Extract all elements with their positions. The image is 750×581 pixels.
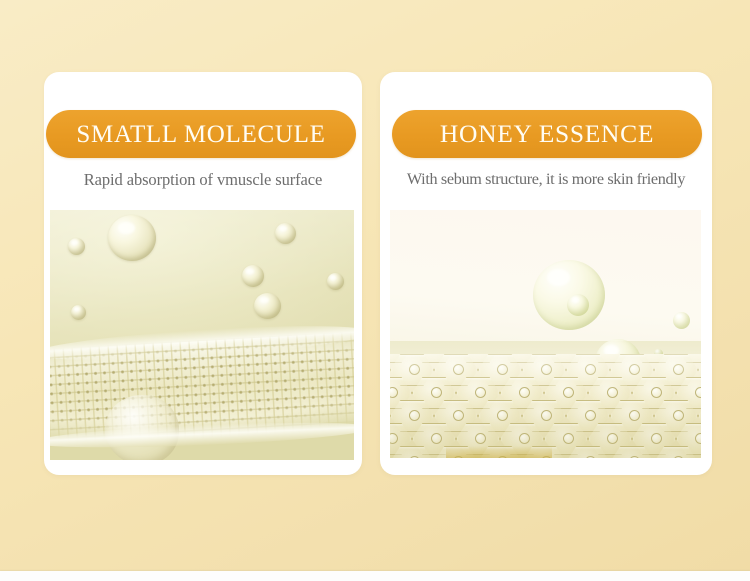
benefit-subtitle-small-molecule: Rapid absorption of vmuscle surface <box>44 170 362 190</box>
serum-bubble <box>108 215 156 261</box>
benefit-image-honey-essence <box>390 210 701 458</box>
bottom-white-strip <box>0 571 750 581</box>
honey-bubble <box>533 260 605 330</box>
benefit-heading-pill-honey-essence: HONEY ESSENCE <box>392 110 702 158</box>
benefit-heading-label: SMATLL MOLECULE <box>76 122 325 147</box>
benefit-card-honey-essence[interactable]: HONEY ESSENCE With sebum structure, it i… <box>380 72 712 475</box>
benefit-subtitle-honey-essence: With sebum structure, it is more skin fr… <box>380 170 712 189</box>
serum-bubble <box>327 273 344 290</box>
serum-bubble <box>275 223 296 244</box>
benefit-heading-pill-small-molecule: SMATLL MOLECULE <box>46 110 356 158</box>
benefit-image-small-molecule <box>50 210 354 460</box>
serum-bubble <box>68 238 85 255</box>
honeycomb-cells <box>390 354 701 458</box>
honeycomb-lattice <box>390 354 701 458</box>
serum-bubble <box>242 265 264 287</box>
benefit-heading-label: HONEY ESSENCE <box>440 121 654 147</box>
benefit-card-small-molecule[interactable]: SMATLL MOLECULE Rapid absorption of vmus… <box>44 72 362 475</box>
serum-bubble <box>254 293 281 319</box>
honeycomb-gold-pool <box>446 446 552 458</box>
honey-bubble <box>673 312 690 329</box>
product-benefits-infographic: SMATLL MOLECULE Rapid absorption of vmus… <box>0 0 750 581</box>
